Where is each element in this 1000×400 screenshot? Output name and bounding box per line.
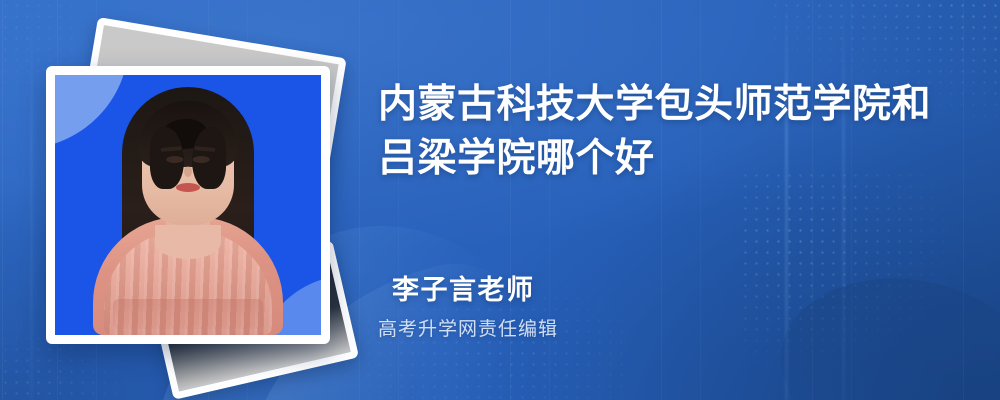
photo-card-stack	[46, 24, 366, 374]
photo-card-front	[46, 66, 330, 344]
portrait-dress-waistband	[113, 299, 263, 329]
portrait-nose	[184, 166, 192, 177]
article-cover-banner: 内蒙古科技大学包头师范学院和吕梁学院哪个好 李子言老师 高考升学网责任编辑	[0, 0, 1000, 400]
banner-title: 内蒙古科技大学包头师范学院和吕梁学院哪个好	[378, 78, 958, 186]
portrait-dress-neckline	[155, 225, 221, 259]
author-portrait-avatar	[55, 85, 321, 335]
portrait-eye-left	[166, 156, 183, 163]
author-role: 高考升学网责任编辑	[378, 317, 938, 343]
portrait-lips	[176, 183, 200, 192]
banner-text-content: 内蒙古科技大学包头师范学院和吕梁学院哪个好 李子言老师 高考升学网责任编辑	[378, 0, 978, 400]
portrait-eye-right	[193, 156, 210, 163]
author-byline: 李子言老师 高考升学网责任编辑	[378, 272, 938, 343]
author-name: 李子言老师	[378, 272, 938, 308]
